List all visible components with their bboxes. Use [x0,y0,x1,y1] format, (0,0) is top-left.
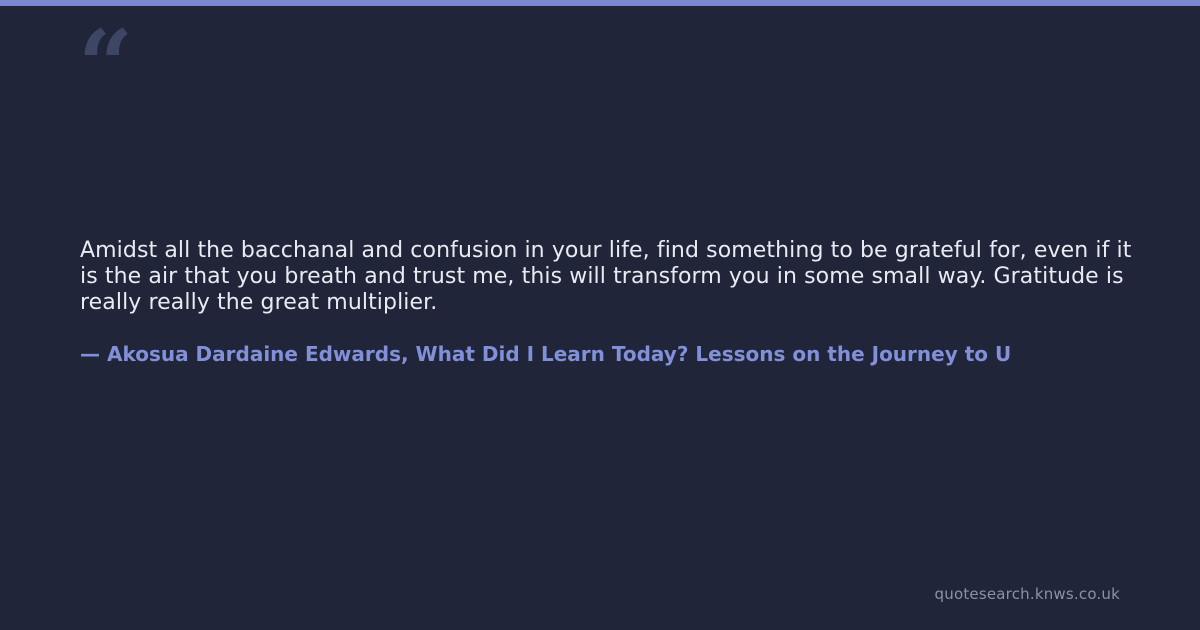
attribution: — Akosua Dardaine Edwards, What Did I Le… [80,340,1200,370]
opening-quotation-mark-icon: “ [78,18,138,88]
top-accent-bar [0,0,1200,6]
quote-text: Amidst all the bacchanal and confusion i… [80,238,1140,316]
quote-card: “ Amidst all the bacchanal and confusion… [0,0,1200,630]
site-credit: quotesearch.knws.co.uk [935,584,1120,604]
attribution-text: — Akosua Dardaine Edwards, What Did I Le… [80,340,1200,368]
